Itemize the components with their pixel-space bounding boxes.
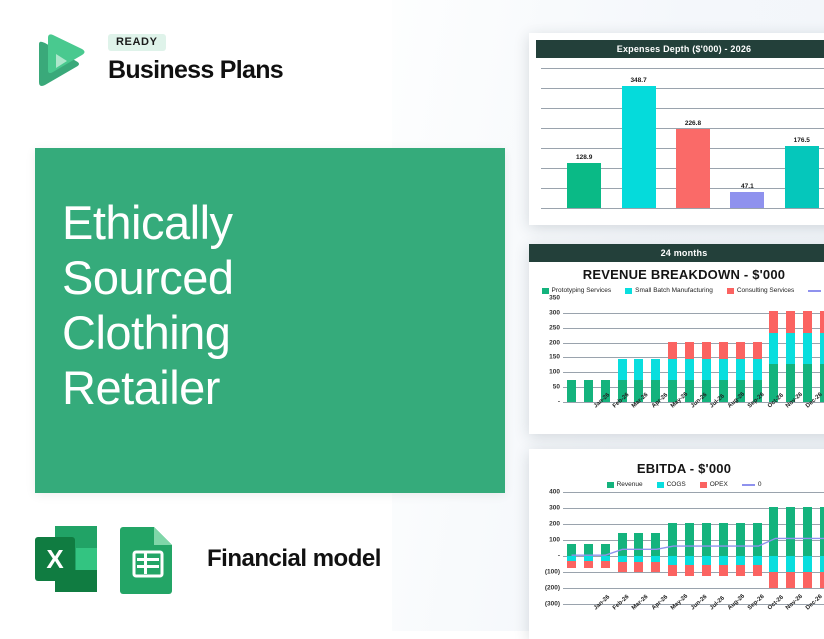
bar-segment-cogs [769, 556, 778, 572]
hero-panel: Ethically Sourced Clothing Retailer [35, 148, 505, 493]
expenses-chart-banner: Expenses Depth ($'000) - 2026 [536, 40, 824, 58]
bar-segment [567, 380, 576, 402]
y-tick-label: 300 [549, 309, 560, 316]
chart-card-revenue: 24 months REVENUE BREAKDOWN - $'000 Prot… [529, 244, 824, 434]
bar-positive [584, 544, 593, 556]
hero-line-4: Retailer [62, 360, 482, 415]
bar-positive [769, 507, 778, 556]
ebitda-bar-column [601, 492, 610, 604]
bar-segment [820, 333, 824, 364]
stacked-bar [651, 298, 660, 402]
bar-negative [584, 556, 593, 568]
y-tick-label: 250 [549, 324, 560, 331]
revenue-bar-group [563, 298, 824, 402]
legend-swatch [542, 288, 549, 294]
bar-segment [702, 359, 711, 380]
bar-segment-opex [719, 565, 728, 577]
bar-segment-opex [668, 565, 677, 577]
bar-segment [786, 311, 795, 333]
bar-segment-revenue [567, 544, 576, 556]
gridline [541, 208, 824, 209]
bar-segment [584, 380, 593, 402]
bar [730, 192, 764, 208]
chart-card-ebitda: EBITDA - $'000 RevenueCOGSOPEX0 40030020… [529, 449, 824, 639]
bar-column: 226.8 [676, 68, 710, 208]
ebitda-bar-column [820, 492, 824, 604]
bar-positive [803, 507, 812, 556]
bar-segment [753, 342, 762, 359]
stacked-bar [618, 298, 627, 402]
bar-positive [820, 507, 824, 556]
legend-label: OPEX [710, 481, 728, 488]
stacked-bar [753, 298, 762, 402]
ebitda-x-axis: Jan-26Feb-26Mar-26Apr-26May-26Jun-26Jul-… [593, 607, 824, 613]
stacked-bar [820, 298, 824, 402]
bar-segment-opex [634, 562, 643, 572]
bar-negative [601, 556, 610, 568]
ebitda-bar-column [685, 492, 694, 604]
bar-segment-revenue [769, 507, 778, 556]
bar-positive [786, 507, 795, 556]
ebitda-plot-area: 400300200100-(100)(200)(300) [533, 492, 824, 604]
bar [785, 146, 819, 208]
bar-negative [820, 556, 824, 588]
y-tick-label: 350 [549, 295, 560, 302]
bar-segment [702, 342, 711, 359]
bar-value-label: 128.9 [567, 154, 601, 161]
bar-column: 348.7 [622, 68, 656, 208]
bar-segment [736, 342, 745, 359]
stacked-bar [736, 298, 745, 402]
legend-item: OPEX [700, 481, 728, 488]
legend-label: Revenue [617, 481, 643, 488]
legend-item: Revenue [607, 481, 643, 488]
bar-positive [567, 544, 576, 556]
ebitda-bar-column [702, 492, 711, 604]
legend-label: Small Batch Manufacturing [635, 287, 713, 294]
footer-row: X Financial model [33, 523, 381, 595]
bar-segment [685, 380, 694, 402]
bar-positive [668, 523, 677, 556]
bar-value-label: 176.5 [785, 137, 819, 144]
bar-negative [702, 556, 711, 576]
hero-line-3: Clothing [62, 305, 482, 360]
revenue-plot-area: 35030025020015010050- [533, 298, 824, 402]
legend-swatch [657, 482, 664, 488]
revenue-chart-legend: Prototyping ServicesSmall Batch Manufact… [529, 287, 824, 294]
hero-line-2: Sourced [62, 250, 482, 305]
legend-label: Prototyping Services [552, 287, 612, 294]
bar-column: 128.9 [567, 68, 601, 208]
y-tick-label: 200 [549, 521, 560, 528]
ebitda-bar-column [651, 492, 660, 604]
bar-segment-opex [618, 562, 627, 572]
ebitda-bar-column [803, 492, 812, 604]
revenue-y-axis: 35030025020015010050- [533, 298, 563, 402]
bar-segment-cogs [719, 556, 728, 565]
y-tick-label: 300 [549, 505, 560, 512]
bar-segment-revenue [702, 523, 711, 556]
play-triangle-logo-icon [26, 30, 92, 96]
bar-segment-opex [651, 562, 660, 572]
stacked-bar [668, 298, 677, 402]
bar-segment [803, 311, 812, 333]
stacked-bar [803, 298, 812, 402]
expenses-plot-area: 128.9348.7226.847.1176.5 [535, 68, 824, 208]
bar-segment-revenue [736, 523, 745, 556]
bar-segment [668, 342, 677, 359]
legend-item: 0 [742, 481, 762, 488]
microsoft-excel-icon: X [33, 524, 99, 594]
bar-segment-opex [803, 572, 812, 588]
bar-segment-revenue [651, 533, 660, 556]
bar-segment [651, 359, 660, 380]
bar-value-label: 47.1 [730, 183, 764, 190]
bar-column: 176.5 [785, 68, 819, 208]
bar-segment-cogs [753, 556, 762, 565]
y-tick-label: - [558, 553, 560, 560]
revenue-x-axis: Jan-26Feb-26Mar-26Apr-26May-26Jun-26Jul-… [593, 405, 824, 411]
bar-segment-revenue [685, 523, 694, 556]
bar-segment [685, 359, 694, 380]
hero-line-1: Ethically [62, 195, 482, 250]
legend-label: COGS [667, 481, 686, 488]
y-tick-label: 100 [549, 537, 560, 544]
bar-positive [651, 533, 660, 556]
ebitda-bar-group [563, 492, 824, 604]
bar-segment [803, 364, 812, 402]
bar-segment-opex [685, 565, 694, 577]
bar-negative [651, 556, 660, 572]
bar-positive [618, 533, 627, 556]
bar [622, 86, 656, 208]
bar-segment-opex [786, 572, 795, 588]
bar-value-label: 226.8 [676, 120, 710, 127]
bar-segment-opex [753, 565, 762, 577]
bar-segment-cogs [820, 556, 824, 572]
revenue-chart-banner: 24 months [529, 244, 824, 262]
bar-segment-cogs [668, 556, 677, 565]
y-tick-label: (300) [545, 601, 560, 608]
bar-segment-opex [601, 561, 610, 568]
bar-positive [702, 523, 711, 556]
ebitda-y-axis: 400300200100-(100)(200)(300) [533, 492, 563, 604]
bar-segment-opex [820, 572, 824, 588]
ebitda-bar-column [736, 492, 745, 604]
legend-item: Prototyping Services [542, 287, 612, 294]
bar-segment [769, 333, 778, 364]
stacked-bar [702, 298, 711, 402]
bar-column: 47.1 [730, 68, 764, 208]
bar-segment [719, 342, 728, 359]
stacked-bar [719, 298, 728, 402]
bar-segment-revenue [601, 544, 610, 556]
ebitda-bar-column [719, 492, 728, 604]
y-tick-label: (200) [545, 585, 560, 592]
bar-segment-cogs [685, 556, 694, 565]
footer-label: Financial model [207, 545, 381, 573]
ebitda-bar-column [618, 492, 627, 604]
bar-value-label: 348.7 [622, 77, 656, 84]
expenses-bar-group: 128.9348.7226.847.1176.5 [557, 68, 824, 208]
bar-positive [685, 523, 694, 556]
bar-segment-revenue [719, 523, 728, 556]
bar-segment-revenue [618, 533, 627, 556]
bar-segment-revenue [584, 544, 593, 556]
y-tick-label: (100) [545, 569, 560, 576]
chart-card-expenses: Expenses Depth ($'000) - 2026 128.9348.7… [529, 33, 824, 225]
bar-segment-revenue [786, 507, 795, 556]
ebitda-bar-column [634, 492, 643, 604]
legend-label: 0 [758, 481, 762, 488]
bar-positive [753, 523, 762, 556]
bar-negative [668, 556, 677, 576]
bar-negative [736, 556, 745, 576]
bar-segment-revenue [753, 523, 762, 556]
bar-segment-cogs [786, 556, 795, 572]
bar-segment [634, 359, 643, 380]
legend-item: Consulting Services [727, 287, 794, 294]
y-tick-label: 100 [549, 369, 560, 376]
y-tick-label: - [558, 399, 560, 406]
stacked-bar [584, 298, 593, 402]
legend-label: Consulting Services [737, 287, 794, 294]
bar-segment-revenue [668, 523, 677, 556]
stacked-bar [685, 298, 694, 402]
stacked-bar [601, 298, 610, 402]
ebitda-bar-column [769, 492, 778, 604]
legend-item: Small Batch Manufacturing [625, 287, 713, 294]
bar-negative [567, 556, 576, 568]
bar-negative [803, 556, 812, 588]
legend-item: - [808, 287, 824, 294]
ebitda-bar-column [584, 492, 593, 604]
bar-segment [753, 359, 762, 380]
bar-segment [736, 359, 745, 380]
ebitda-chart-legend: RevenueCOGSOPEX0 [529, 481, 824, 488]
ebitda-bar-column [786, 492, 795, 604]
brand-name: Business Plans [108, 56, 283, 84]
bar-negative [753, 556, 762, 576]
y-tick-label: 200 [549, 339, 560, 346]
bar-segment [820, 311, 824, 333]
bar-segment-revenue [803, 507, 812, 556]
bar-positive [601, 544, 610, 556]
ebitda-bar-column [567, 492, 576, 604]
bar [567, 163, 601, 208]
bar-segment-revenue [634, 533, 643, 556]
legend-swatch [607, 482, 614, 488]
brand-logo-block: READY Business Plans [26, 26, 286, 100]
bar-negative [719, 556, 728, 576]
ready-badge: READY [108, 34, 166, 51]
legend-item: COGS [657, 481, 686, 488]
bar-negative [634, 556, 643, 572]
ebitda-bar-column [668, 492, 677, 604]
bar [676, 129, 710, 208]
stacked-bar [567, 298, 576, 402]
bar-segment-opex [567, 561, 576, 568]
bar-segment-opex [769, 572, 778, 588]
bar-positive [719, 523, 728, 556]
bar-segment-opex [736, 565, 745, 577]
legend-swatch [700, 482, 707, 488]
bar-segment-opex [702, 565, 711, 577]
bar-segment-opex [584, 561, 593, 568]
bar-positive [736, 523, 745, 556]
bar-negative [769, 556, 778, 588]
legend-swatch [742, 484, 755, 486]
legend-swatch [727, 288, 734, 294]
y-tick-label: 400 [549, 489, 560, 496]
bar-segment [685, 342, 694, 359]
page-title: Ethically Sourced Clothing Retailer [62, 195, 482, 415]
bar-negative [685, 556, 694, 576]
bar-negative [786, 556, 795, 588]
y-tick-label: 50 [553, 384, 560, 391]
svg-text:X: X [46, 544, 64, 574]
bar-segment [786, 333, 795, 364]
google-sheets-icon [115, 524, 181, 594]
stacked-bar [634, 298, 643, 402]
bar-segment-cogs [702, 556, 711, 565]
bar-segment [803, 333, 812, 364]
stacked-bar [786, 298, 795, 402]
bar-segment-cogs [803, 556, 812, 572]
revenue-chart-title: REVENUE BREAKDOWN - $'000 [529, 267, 824, 282]
bar-negative [618, 556, 627, 572]
legend-swatch [625, 288, 632, 294]
bar-positive [634, 533, 643, 556]
y-tick-label: 150 [549, 354, 560, 361]
bar-segment [618, 359, 627, 380]
ebitda-bar-column [753, 492, 762, 604]
bar-segment [719, 359, 728, 380]
bar-segment-cogs [736, 556, 745, 565]
bar-segment [769, 311, 778, 333]
stacked-bar [769, 298, 778, 402]
bar-segment-revenue [820, 507, 824, 556]
ebitda-chart-title: EBITDA - $'000 [529, 461, 824, 476]
legend-swatch [808, 290, 821, 292]
bar-segment [668, 359, 677, 380]
